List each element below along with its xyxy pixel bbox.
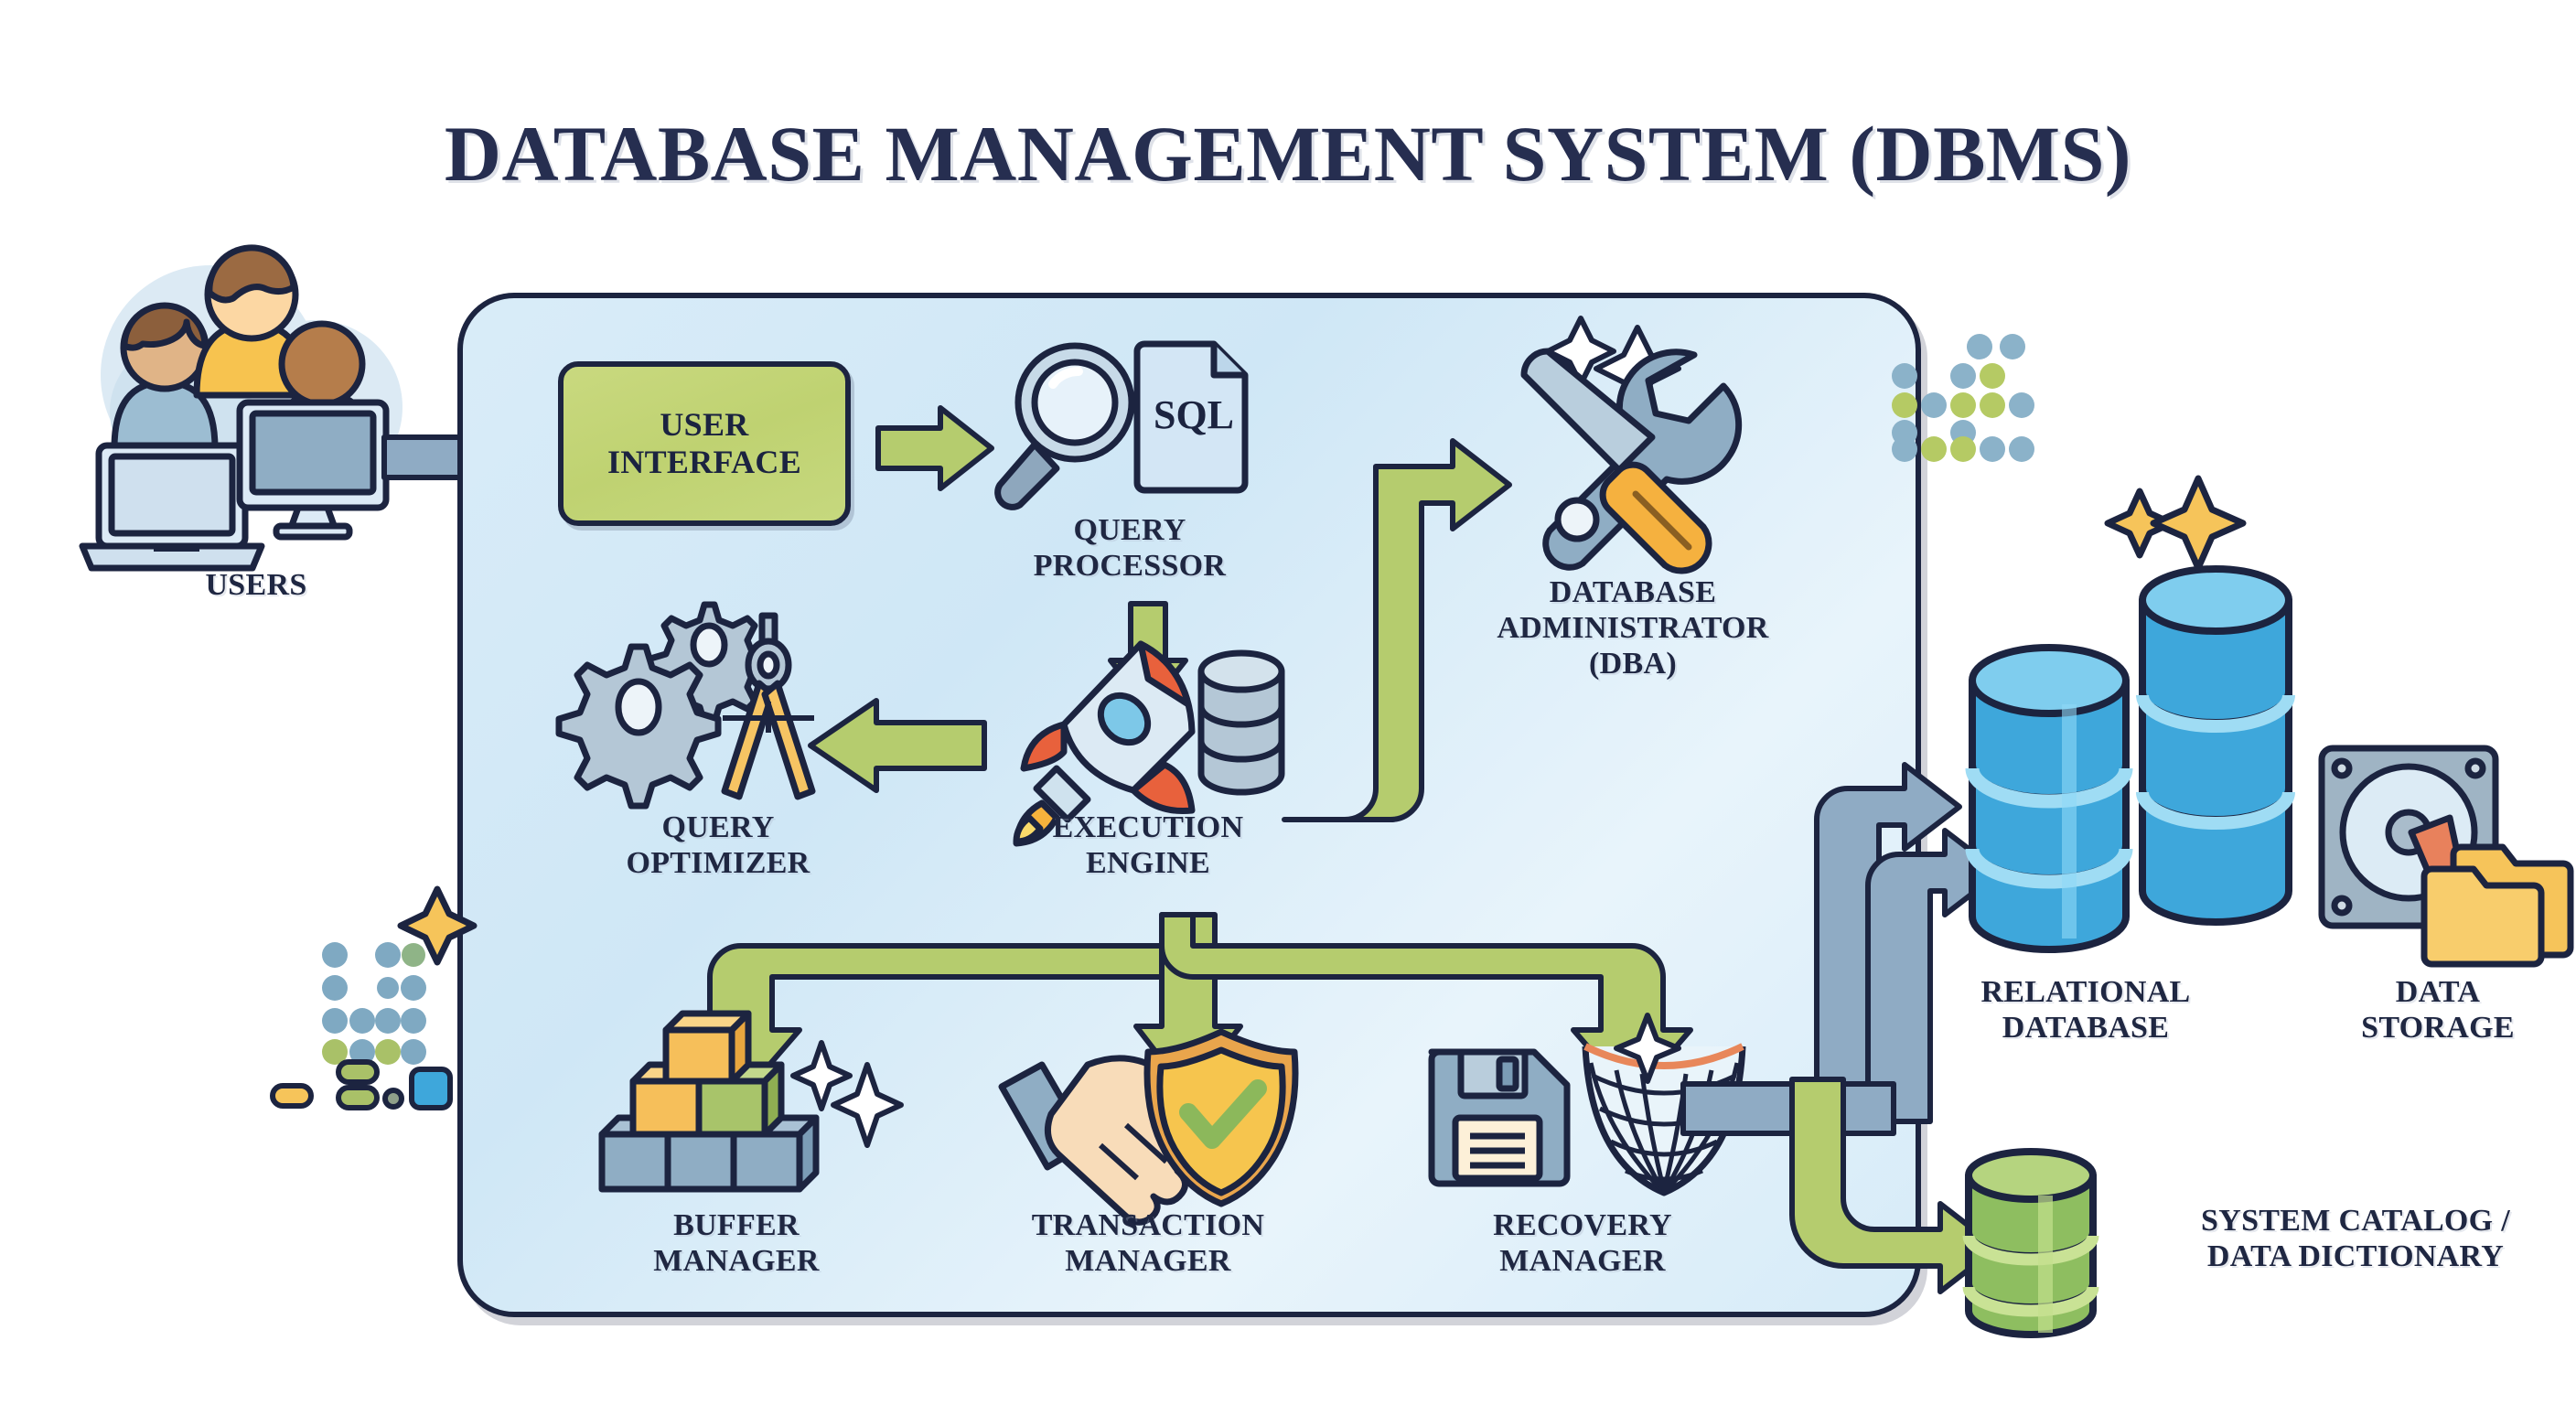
data-storage-label: DATA STORAGE — [2305, 974, 2571, 1046]
stacked-boxes-icon — [602, 1014, 816, 1189]
database-administrator-node[interactable] — [1482, 311, 1775, 576]
query-optimizer-label: QUERY OPTIMIZER — [567, 810, 869, 881]
sparkle-icon — [2090, 471, 2273, 581]
magnifier-icon — [998, 346, 1132, 507]
transaction-manager-label: TRANSACTION MANAGER — [970, 1207, 1326, 1279]
system-catalog-node[interactable] — [1958, 1148, 2122, 1340]
gear-icon — [559, 647, 718, 806]
sql-doc-label: SQL — [1154, 392, 1234, 437]
users-label: USERS — [101, 567, 412, 603]
arrow-ui-to-query-processor — [878, 402, 997, 494]
user-interface-node[interactable]: USER INTERFACE — [558, 361, 851, 526]
system-catalog-label: SYSTEM CATALOG / DATA DICTIONARY — [2141, 1203, 2571, 1274]
database-administrator-label: DATABASE ADMINISTRATOR (DBA) — [1454, 574, 1811, 681]
sparkle-icon — [401, 885, 474, 959]
green-database-cylinder-icon — [1958, 1148, 2122, 1340]
diagram-canvas: DATABASE MANAGEMENT SYSTEM (DBMS) — [0, 0, 2576, 1405]
query-processor-label: QUERY PROCESSOR — [974, 512, 1285, 584]
floppy-disk-icon — [1432, 1052, 1567, 1184]
arrow-execution-engine-to-query-optimizer — [805, 695, 988, 796]
relational-database-label: RELATIONAL DATABASE — [1930, 974, 2241, 1046]
buffer-manager-label: BUFFER MANAGER — [585, 1207, 887, 1279]
execution-engine-label: EXECUTION ENGINE — [988, 810, 1308, 881]
transaction-manager-node[interactable] — [993, 1024, 1304, 1207]
user-interface-label-line2: INTERFACE — [607, 444, 801, 481]
dot-grid-icon — [322, 942, 432, 1061]
dot-grid-icon — [1884, 334, 2058, 453]
page-title: DATABASE MANAGEMENT SYSTEM (DBMS) — [0, 108, 2576, 199]
buffer-manager-node[interactable] — [595, 1024, 896, 1207]
data-storage-node[interactable] — [2314, 741, 2571, 970]
relational-database-node[interactable] — [1948, 549, 2333, 970]
query-processor-node[interactable]: SQL — [983, 337, 1276, 520]
user-interface-label-line1: USER — [607, 406, 801, 444]
database-cylinder-icon — [1201, 653, 1282, 792]
database-cylinders-icon — [1948, 549, 2333, 970]
execution-engine-node[interactable] — [1002, 631, 1304, 823]
decorative-pills-icon — [267, 1056, 468, 1130]
recovery-manager-label: RECOVERY MANAGER — [1422, 1207, 1743, 1279]
